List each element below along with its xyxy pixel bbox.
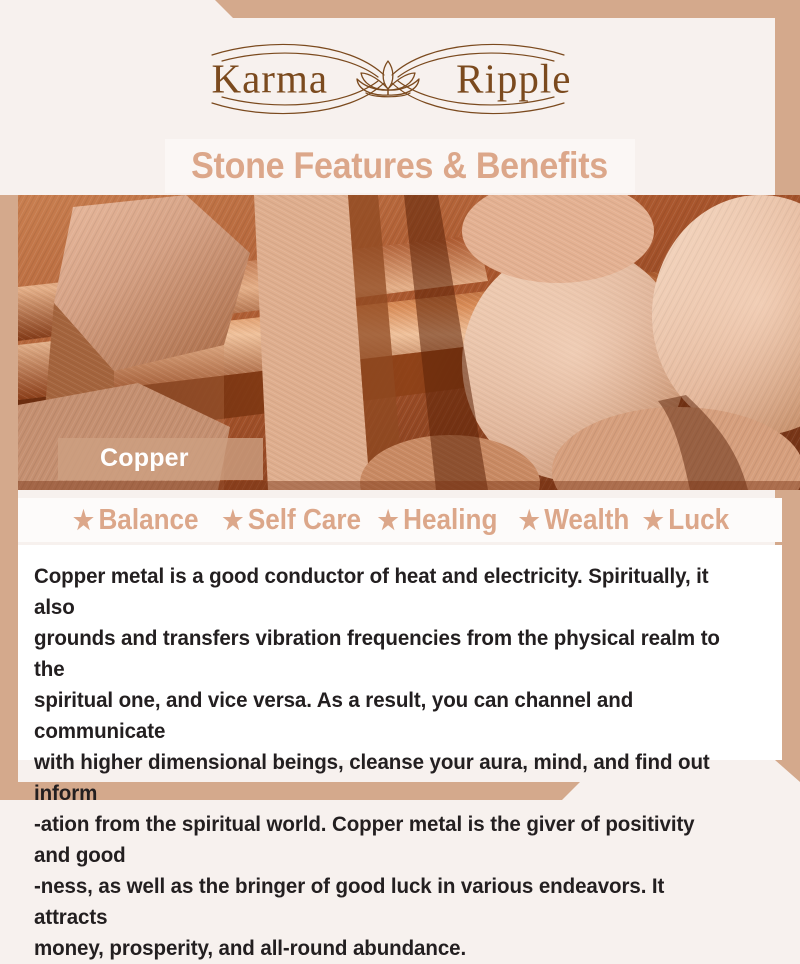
description-line: -ness, as well as the bringer of good lu… <box>34 871 722 933</box>
benefit-item-healing: ★ Healing <box>377 504 497 537</box>
description-line: Copper metal is a good conductor of heat… <box>34 561 722 623</box>
benefit-item-balance: ★ Balance <box>73 504 199 537</box>
benefit-item-self-care: ★ Self Care <box>216 504 361 537</box>
description-line: grounds and transfers vibration frequenc… <box>34 623 722 685</box>
brand-logo: Karma Ripple <box>178 31 598 127</box>
benefits-list: ★ Balance ★ Self Care ★ Healing ★ Wealth… <box>18 498 782 542</box>
benefit-item-luck: ★ Luck <box>643 504 729 537</box>
benefit-label: Luck <box>668 504 729 537</box>
description-text: Copper metal is a good conductor of heat… <box>34 561 722 964</box>
brand-name-left: Karma <box>212 59 329 100</box>
star-icon: ★ <box>519 507 540 533</box>
star-icon: ★ <box>73 507 94 533</box>
description-panel: Copper metal is a good conductor of heat… <box>18 545 782 760</box>
benefit-item-wealth: ★ Wealth <box>512 504 629 537</box>
benefit-label: Balance <box>99 504 199 537</box>
infographic-page: Karma Ripple Stone Features & Benefits <box>0 0 800 800</box>
page-title: Stone Features & Benefits <box>192 145 609 187</box>
stone-name-label: Copper <box>100 444 189 472</box>
benefit-label: Healing <box>403 504 497 537</box>
hero-caption-banner: Copper <box>58 438 263 480</box>
description-line: -ation from the spiritual world. Copper … <box>34 809 722 871</box>
lotus-flower-icon <box>357 61 419 97</box>
star-icon: ★ <box>377 507 398 533</box>
description-line: money, prosperity, and all-round abundan… <box>34 933 722 964</box>
hero-image: Copper <box>18 195 800 490</box>
star-icon: ★ <box>222 507 243 533</box>
benefit-label: Self Care <box>248 504 361 537</box>
page-header: Karma Ripple <box>0 18 775 140</box>
section-title-band: Stone Features & Benefits <box>165 139 635 193</box>
description-line: spiritual one, and vice versa. As a resu… <box>34 685 722 747</box>
star-icon: ★ <box>643 507 664 533</box>
benefit-label: Wealth <box>544 504 629 537</box>
brand-name-right: Ripple <box>456 59 571 100</box>
